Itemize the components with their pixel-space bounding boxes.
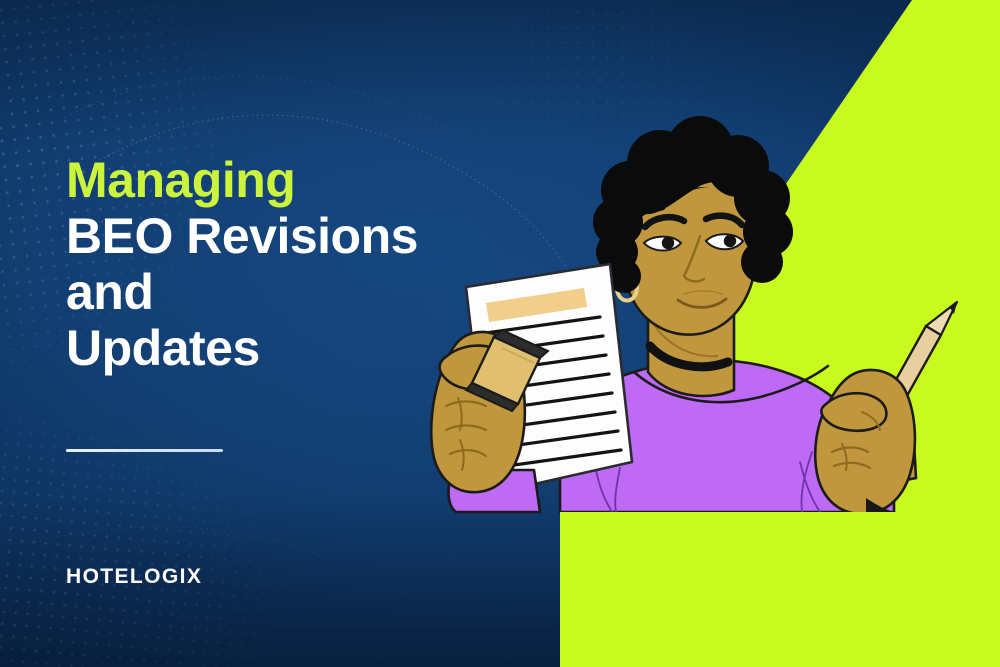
brand-logo: HOTELOGIX — [66, 565, 202, 589]
headline-line-4: Updates — [66, 320, 506, 376]
page-title: Managing BEO Revisions and Updates — [66, 152, 506, 376]
right-arm-with-pencil — [815, 302, 957, 514]
headline-line-1: Managing — [66, 152, 506, 208]
headline-line-2: BEO Revisions — [66, 208, 506, 264]
title-divider-rule — [66, 449, 223, 452]
headline-line-3: and — [66, 264, 506, 320]
hero-banner: Managing BEO Revisions and Updates HOTEL… — [0, 0, 1000, 667]
